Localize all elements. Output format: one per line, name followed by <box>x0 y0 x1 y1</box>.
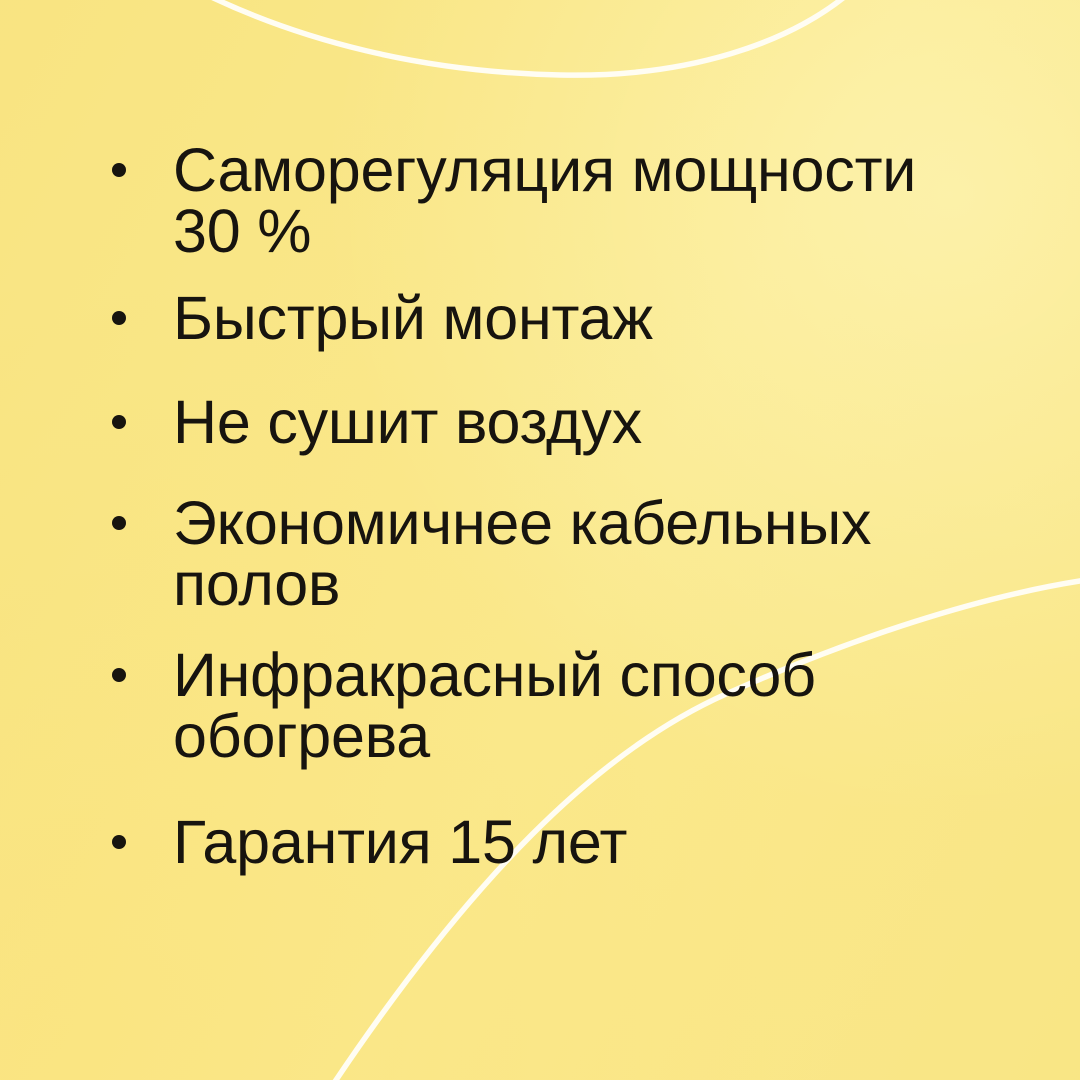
slide-canvas: Саморегуляция мощности 30 % Быстрый монт… <box>0 0 1080 1080</box>
list-item-label: Саморегуляция мощности 30 % <box>173 140 972 262</box>
list-item: Экономичнее кабельных полов <box>112 493 972 615</box>
list-item: Не сушит воздух <box>112 392 972 453</box>
list-item: Гарантия 15 лет <box>112 812 972 873</box>
list-item-label: Инфракрасный способ обогрева <box>173 645 972 767</box>
feature-bullet-list: Саморегуляция мощности 30 % Быстрый монт… <box>0 0 1080 1080</box>
list-item-label: Не сушит воздух <box>173 392 972 453</box>
bullet-dot-icon <box>112 835 126 849</box>
list-item: Быстрый монтаж <box>112 288 972 349</box>
list-item-label: Быстрый монтаж <box>173 288 972 349</box>
bullet-dot-icon <box>112 311 126 325</box>
bullet-dot-icon <box>112 516 126 530</box>
bullet-dot-icon <box>112 163 126 177</box>
list-item-label: Гарантия 15 лет <box>173 812 972 873</box>
bullet-dot-icon <box>112 668 126 682</box>
list-item-label: Экономичнее кабельных полов <box>173 493 972 615</box>
list-item: Инфракрасный способ обогрева <box>112 645 972 767</box>
bullet-dot-icon <box>112 415 126 429</box>
list-item: Саморегуляция мощности 30 % <box>112 140 972 262</box>
